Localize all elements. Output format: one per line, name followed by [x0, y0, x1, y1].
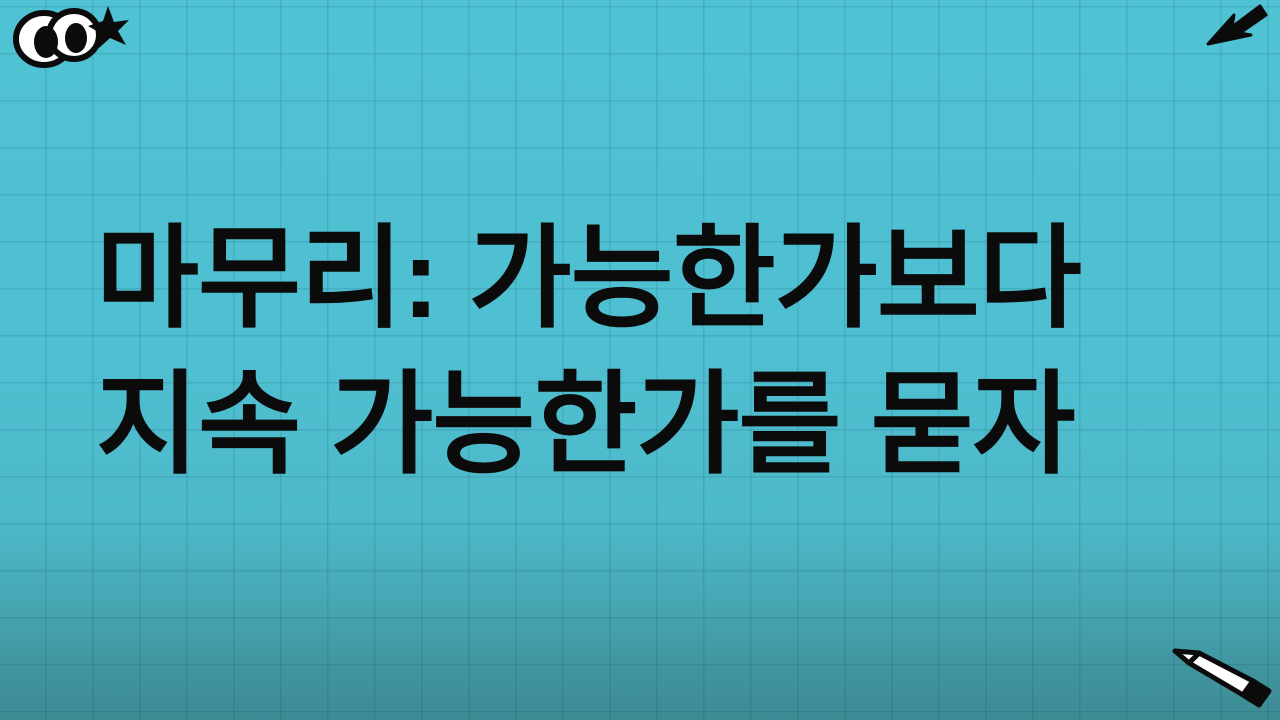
star-icon: [88, 6, 129, 48]
headline-line-1: 마무리: 가능한가보다: [96, 206, 1196, 352]
slide-canvas: 마무리: 가능한가보다 지속 가능한가를 묻자: [0, 0, 1280, 720]
headline-line-2: 지속 가능한가를 묻자: [96, 352, 1196, 498]
pencil-icon: [1165, 645, 1275, 717]
googly-eyes-icon: [8, 2, 130, 70]
page-title: 마무리: 가능한가보다 지속 가능한가를 묻자: [96, 206, 1196, 498]
arrow-cursor-icon: [1204, 4, 1270, 50]
